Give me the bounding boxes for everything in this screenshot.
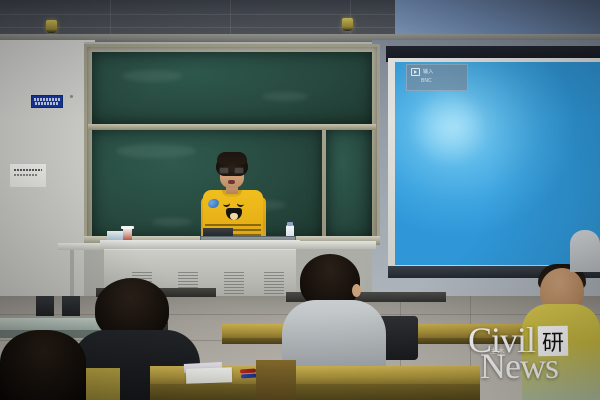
photo-vignette [0,0,600,400]
classroom-photo: 输入 BNC [0,0,600,400]
